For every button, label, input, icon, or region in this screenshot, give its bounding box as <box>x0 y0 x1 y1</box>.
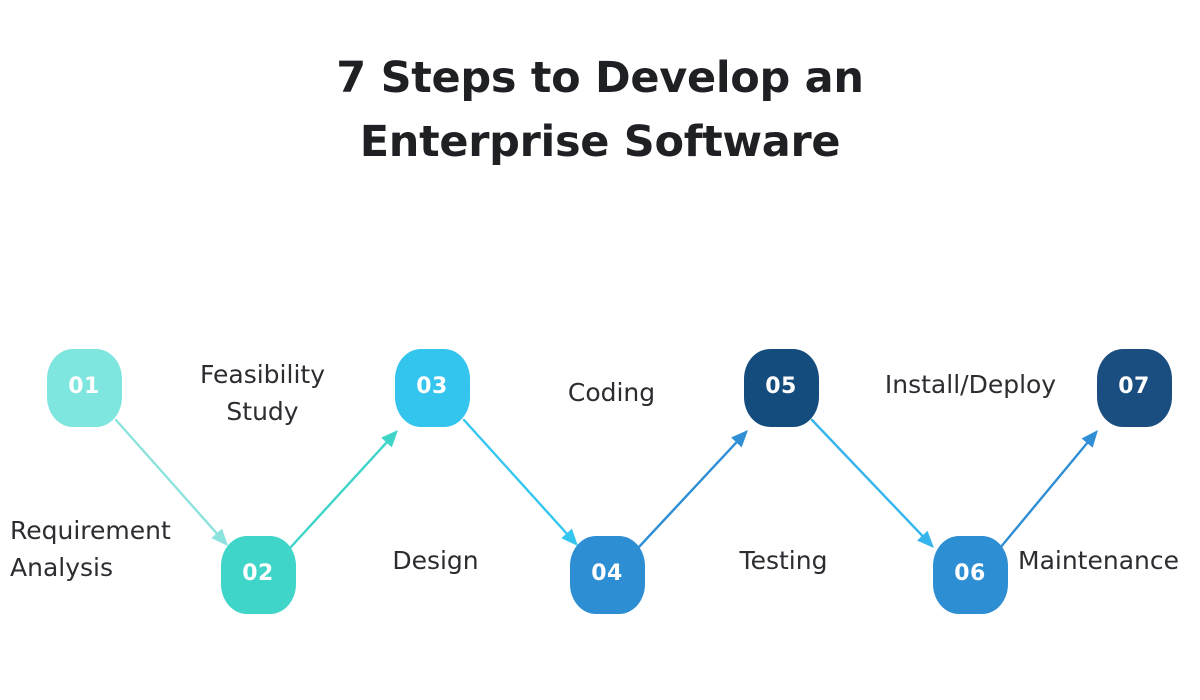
step-label-05: Testing <box>696 542 871 579</box>
connector-04-to-05 <box>638 430 748 548</box>
infographic-canvas: 7 Steps to Develop an Enterprise Softwar… <box>0 0 1200 700</box>
step-number: 06 <box>954 563 986 585</box>
connector-03-to-04 <box>464 420 578 546</box>
step-node-07[interactable]: 07 <box>1097 349 1172 427</box>
step-label-04: Coding <box>524 374 699 411</box>
arrowhead-icon <box>917 531 934 548</box>
step-node-03[interactable]: 03 <box>395 349 470 427</box>
step-number: 03 <box>416 376 448 398</box>
step-node-06[interactable]: 06 <box>933 536 1008 614</box>
connector-02-to-03 <box>290 430 398 548</box>
step-number: 01 <box>68 376 100 398</box>
arrowhead-icon <box>561 529 578 546</box>
arrowhead-icon <box>381 430 398 447</box>
step-node-01[interactable]: 01 <box>47 349 122 427</box>
step-label-07: Maintenance <box>1018 542 1200 579</box>
connector-05-to-06 <box>812 420 934 548</box>
step-label-01: Requirement Analysis <box>10 512 185 586</box>
step-label-03: Design <box>348 542 523 579</box>
step-node-05[interactable]: 05 <box>744 349 819 427</box>
step-label-06: Install/Deploy <box>873 366 1068 403</box>
step-number: 02 <box>242 563 274 585</box>
connector-line <box>812 420 924 538</box>
step-node-02[interactable]: 02 <box>221 536 296 614</box>
step-number: 04 <box>591 563 623 585</box>
step-label-02: Feasibility Study <box>175 356 350 430</box>
step-node-04[interactable]: 04 <box>570 536 645 614</box>
connector-06-to-07 <box>1000 430 1098 548</box>
process-flow-diagram: 01020304050607 Requirement AnalysisFeasi… <box>0 0 1200 700</box>
arrowhead-icon <box>731 430 748 447</box>
step-number: 05 <box>765 376 797 398</box>
connector-line <box>464 420 569 536</box>
arrowhead-icon <box>211 529 228 546</box>
connector-line <box>1000 441 1089 548</box>
arrowhead-icon <box>1082 430 1098 448</box>
step-number: 07 <box>1118 376 1150 398</box>
connector-line <box>638 440 738 548</box>
connector-line <box>290 440 389 548</box>
